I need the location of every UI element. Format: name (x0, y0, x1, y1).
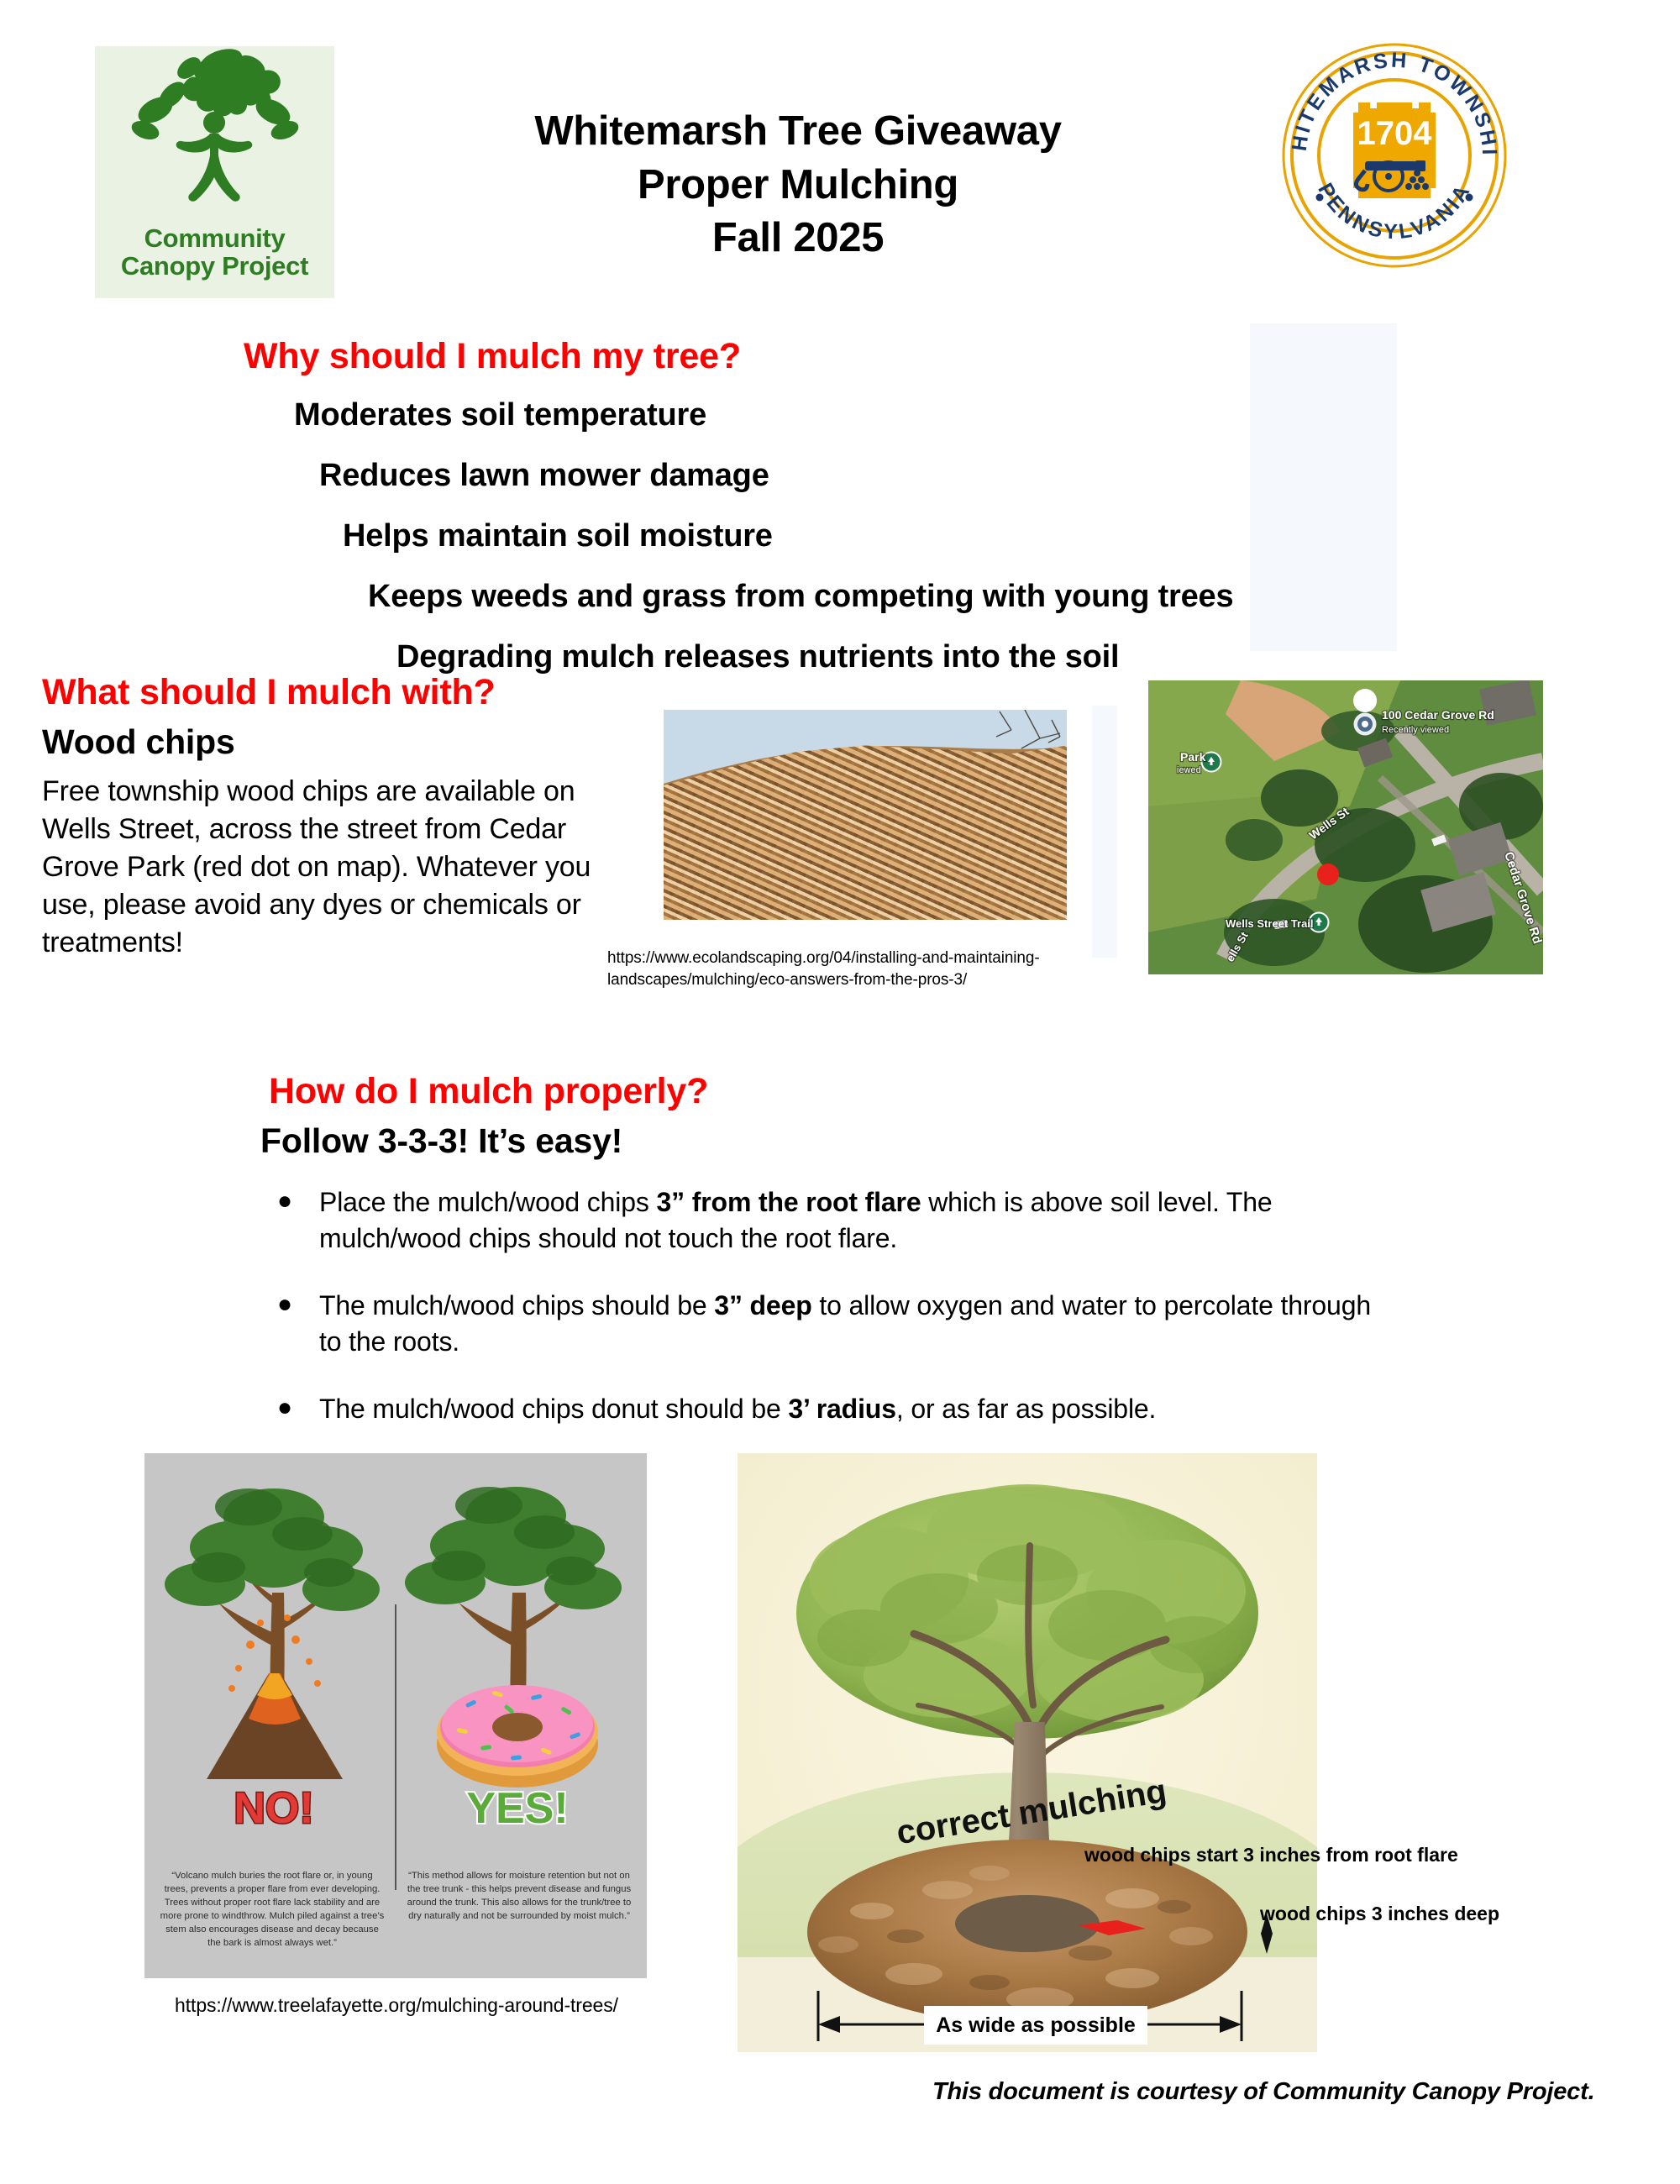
bullet-icon: ● (277, 1395, 292, 1420)
as-wide-as-possible-label: As wide as possible (924, 2006, 1147, 2045)
title-line-3: Fall 2025 (336, 212, 1260, 265)
community-canopy-logo: Community Canopy Project (95, 46, 334, 298)
why-mulch-heading: Why should I mulch my tree? (244, 336, 741, 377)
bullet-bold: 3” deep (714, 1290, 811, 1320)
wood-chip-pile-photo (664, 710, 1067, 920)
wood-chips-depth-label: wood chips 3 inches deep (1260, 1903, 1499, 1925)
bullet-pre: The mulch/wood chips donut should be (319, 1394, 788, 1424)
bullet-bold: 3” from the root flare (657, 1187, 921, 1217)
bullet-icon: ● (277, 1292, 292, 1317)
yes-caption: “This method allows for moisture retenti… (407, 1869, 632, 1923)
bullet-post: , or as far as possible. (896, 1394, 1156, 1424)
title-line-2: Proper Mulching (336, 159, 1260, 213)
why-item: Keeps weeds and grass from competing wit… (368, 580, 1420, 612)
bullet-pre: Place the mulch/wood chips (319, 1187, 657, 1217)
wood-chips-root-flare-label: wood chips start 3 inches from root flar… (1084, 1844, 1458, 1866)
list-item: ● The mulch/wood chips donut should be 3… (269, 1391, 1386, 1427)
logo-text: Community Canopy Project (95, 224, 334, 281)
logo-line-2: Canopy Project (95, 252, 334, 280)
svg-text:iewed: iewed (1177, 765, 1201, 775)
svg-text:1704: 1704 (1357, 115, 1433, 152)
why-item: Helps maintain soil moisture (343, 520, 1420, 552)
svg-text:100 Cedar Grove Rd: 100 Cedar Grove Rd (1382, 708, 1494, 722)
no-yes-image-credit: https://www.treelafayette.org/mulching-a… (144, 1994, 648, 2017)
bullet-icon: ● (277, 1189, 292, 1214)
why-item: Moderates soil temperature (294, 399, 1420, 431)
svg-text:Park: Park (1180, 750, 1206, 764)
bullet-pre: The mulch/wood chips should be (319, 1290, 714, 1320)
correct-mulching-diagram: correct mulching As wide as possible (738, 1453, 1317, 2052)
no-caption: “Volcano mulch buries the root flare or,… (160, 1869, 385, 1950)
wood-chips-subheading: Wood chips (42, 722, 235, 762)
svg-text:Wells Street Trail: Wells Street Trail (1226, 917, 1314, 930)
list-item: ● Place the mulch/wood chips 3” from the… (269, 1184, 1386, 1256)
no-label: NO! (234, 1784, 313, 1833)
how-mulch-subheading: Follow 3-3-3! It’s easy! (260, 1121, 622, 1161)
logo-line-1: Community (95, 224, 334, 252)
volcano-vs-donut-mulch-image: NO! (144, 1453, 647, 1978)
why-item: Reduces lawn mower damage (319, 459, 1420, 491)
why-item: Degrading mulch releases nutrients into … (396, 641, 1420, 673)
township-seal-icon: WHITEMARSH TOWNSHIP PENNSYLVANIA 1704 (1281, 42, 1508, 269)
wood-chips-photo-credit: https://www.ecolandscaping.org/04/instal… (607, 948, 1111, 991)
satellite-map-wells-street: 100 Cedar Grove Rd Recently viewed Park … (1148, 680, 1543, 974)
how-mulch-list: ● Place the mulch/wood chips 3” from the… (269, 1184, 1386, 1459)
yes-label: YES! (466, 1784, 568, 1833)
page-title: Whitemarsh Tree Giveaway Proper Mulching… (336, 105, 1260, 265)
why-mulch-list: Moderates soil temperature Reduces lawn … (244, 399, 1420, 673)
how-mulch-heading: How do I mulch properly? (269, 1071, 708, 1112)
list-item: ● The mulch/wood chips should be 3” deep… (269, 1288, 1386, 1359)
bullet-bold: 3’ radius (788, 1394, 896, 1424)
slide-artifact-rect-2 (1092, 706, 1117, 958)
wood-chips-body-text: Free township wood chips are available o… (42, 773, 596, 961)
tree-person-logo-icon (95, 46, 334, 227)
title-line-1: Whitemarsh Tree Giveaway (336, 105, 1260, 159)
what-mulch-heading: What should I mulch with? (42, 672, 496, 713)
document-footer: This document is courtesy of Community C… (932, 2078, 1594, 2106)
svg-text:Recently viewed: Recently viewed (1382, 725, 1449, 735)
